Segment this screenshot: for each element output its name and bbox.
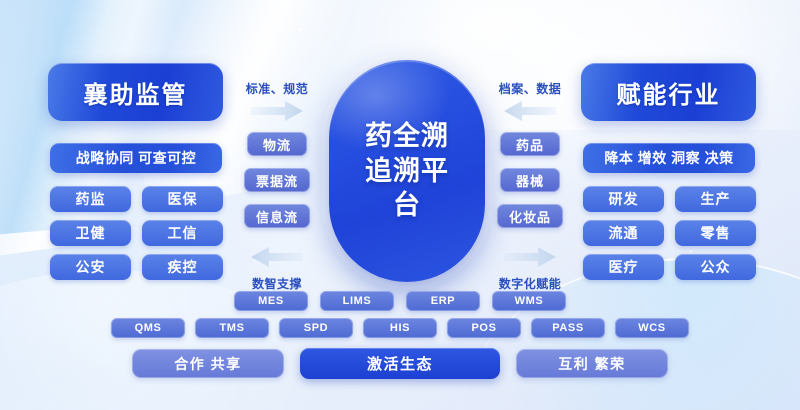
left-flow-bottom-caption: 数智支撑 [234, 275, 320, 292]
right-flow-top-caption: 档案、数据 [487, 80, 573, 97]
left-panel-subtitle: 战略协同 可查可控 [50, 143, 222, 173]
tag-item[interactable]: 流通 [583, 220, 664, 246]
tag-item[interactable]: 公安 [50, 254, 131, 280]
system-chip[interactable]: WCS [615, 318, 689, 338]
arrow-right-icon [249, 100, 305, 122]
flow-pill[interactable]: 器械 [500, 168, 560, 192]
tag-item[interactable]: 零售 [675, 220, 756, 246]
system-chip[interactable]: HIS [363, 318, 437, 338]
right-panel-subtitle: 降本 增效 洞察 决策 [583, 143, 755, 173]
tag-item[interactable]: 医保 [142, 186, 223, 212]
system-chip[interactable]: TMS [195, 318, 269, 338]
left-flow-column: 标准、规范 物流 票据流 信息流 数智支撑 [234, 80, 320, 292]
right-panel-tag-grid: 研发 生产 流通 零售 医疗 公众 [583, 186, 756, 280]
arrow-left-icon [249, 246, 305, 268]
system-chip[interactable]: MES [234, 291, 308, 311]
system-chip[interactable]: SPD [279, 318, 353, 338]
system-chip[interactable]: ERP [406, 291, 480, 311]
left-panel-title: 襄助监管 [48, 63, 223, 121]
system-chip-row-secondary: QMS TMS SPD HIS POS PASS WCS [0, 318, 800, 338]
left-flow-top-caption: 标准、规范 [234, 80, 320, 97]
tag-item[interactable]: 生产 [675, 186, 756, 212]
flow-pill[interactable]: 信息流 [244, 204, 310, 228]
slogan-center[interactable]: 激活生态 [300, 348, 500, 379]
slogan-right[interactable]: 互利 繁荣 [516, 349, 668, 378]
tag-item[interactable]: 医疗 [583, 254, 664, 280]
tag-item[interactable]: 公众 [675, 254, 756, 280]
flow-pill[interactable]: 化妆品 [497, 204, 563, 228]
central-platform-label: 药全溯追溯平台 [355, 119, 459, 223]
flow-pill[interactable]: 药品 [500, 132, 560, 156]
tag-item[interactable]: 疾控 [142, 254, 223, 280]
slogan-row: 合作 共享 激活生态 互利 繁荣 [0, 348, 800, 379]
system-chip[interactable]: PASS [531, 318, 605, 338]
tag-item[interactable]: 工信 [142, 220, 223, 246]
slogan-left[interactable]: 合作 共享 [132, 349, 284, 378]
arrow-right-icon [502, 246, 558, 268]
system-chip[interactable]: WMS [492, 291, 566, 311]
flow-pill[interactable]: 票据流 [244, 168, 310, 192]
flow-pill[interactable]: 物流 [247, 132, 307, 156]
tag-item[interactable]: 卫健 [50, 220, 131, 246]
central-platform-node[interactable]: 药全溯追溯平台 [329, 60, 485, 282]
sparkle-dot-icon [520, 60, 522, 62]
right-flow-bottom-caption: 数字化赋能 [487, 275, 573, 292]
tag-item[interactable]: 研发 [583, 186, 664, 212]
sparkle-dot-icon [298, 28, 301, 31]
arrow-left-icon [502, 100, 558, 122]
system-chip-row-primary: MES LIMS ERP WMS [0, 291, 800, 311]
system-chip[interactable]: QMS [111, 318, 185, 338]
tag-item[interactable]: 药监 [50, 186, 131, 212]
right-panel-title: 赋能行业 [581, 63, 756, 121]
infographic-canvas: 襄助监管 战略协同 可查可控 药监 医保 卫健 工信 公安 疾控 标准、规范 物… [0, 0, 800, 410]
right-flow-column: 档案、数据 药品 器械 化妆品 数字化赋能 [487, 80, 573, 292]
left-panel-tag-grid: 药监 医保 卫健 工信 公安 疾控 [50, 186, 223, 280]
system-chip[interactable]: LIMS [320, 291, 394, 311]
system-chip[interactable]: POS [447, 318, 521, 338]
